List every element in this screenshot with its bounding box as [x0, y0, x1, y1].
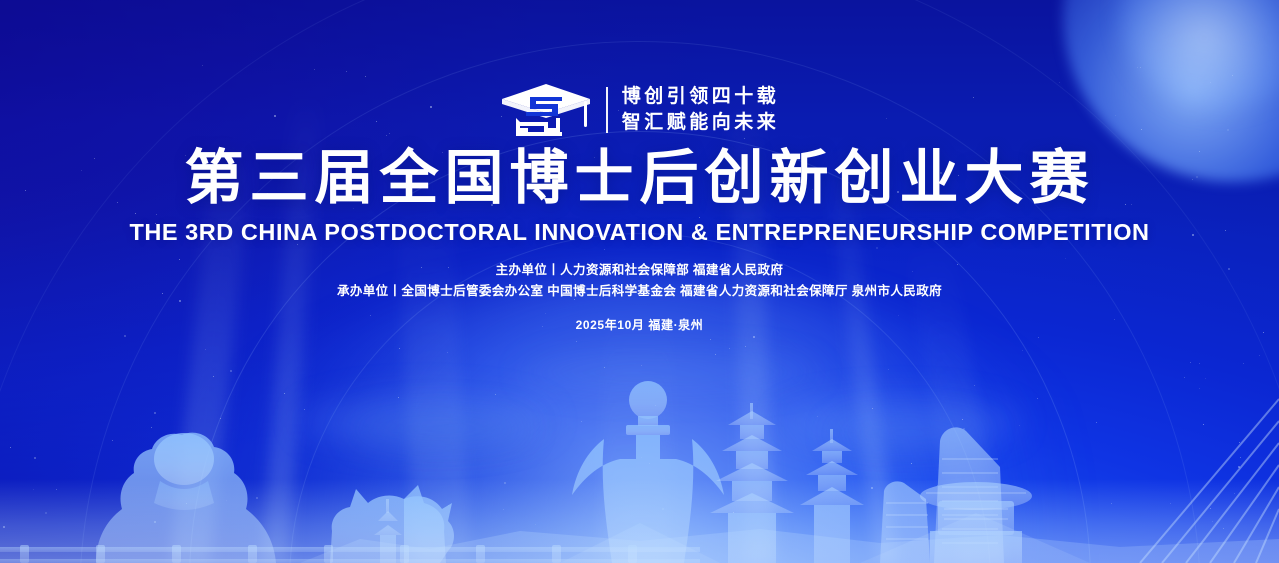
graduation-cap-emblem-icon — [500, 82, 592, 138]
banner-content: 博创引领四十载 智汇赋能向未来 第三届全国博士后创新创业大赛 THE 3RD C… — [0, 0, 1279, 563]
logo-slogan-line-1: 博创引领四十载 — [622, 86, 780, 108]
organizer-line-host: 主办单位丨人力资源和社会保障部 福建省人民政府 — [0, 260, 1279, 281]
organizer-line-coorganizer: 承办单位丨全国博士后管委会办公室 中国博士后科学基金会 福建省人力资源和社会保障… — [0, 281, 1279, 302]
page-title-chinese: 第三届全国博士后创新创业大赛 — [0, 148, 1279, 209]
logo-slogan: 博创引领四十载 智汇赋能向未来 — [622, 86, 780, 133]
organizer-block: 主办单位丨人力资源和社会保障部 福建省人民政府 承办单位丨全国博士后管委会办公室… — [0, 260, 1279, 302]
competition-banner: 博创引领四十载 智汇赋能向未来 第三届全国博士后创新创业大赛 THE 3RD C… — [0, 0, 1279, 563]
date-location-line: 2025年10月 福建·泉州 — [0, 316, 1279, 333]
logo-lockup: 博创引领四十载 智汇赋能向未来 — [0, 82, 1279, 138]
logo-slogan-line-2: 智汇赋能向未来 — [622, 112, 780, 134]
page-title-english: THE 3RD CHINA POSTDOCTORAL INNOVATION & … — [0, 219, 1279, 246]
logo-divider — [606, 87, 608, 133]
